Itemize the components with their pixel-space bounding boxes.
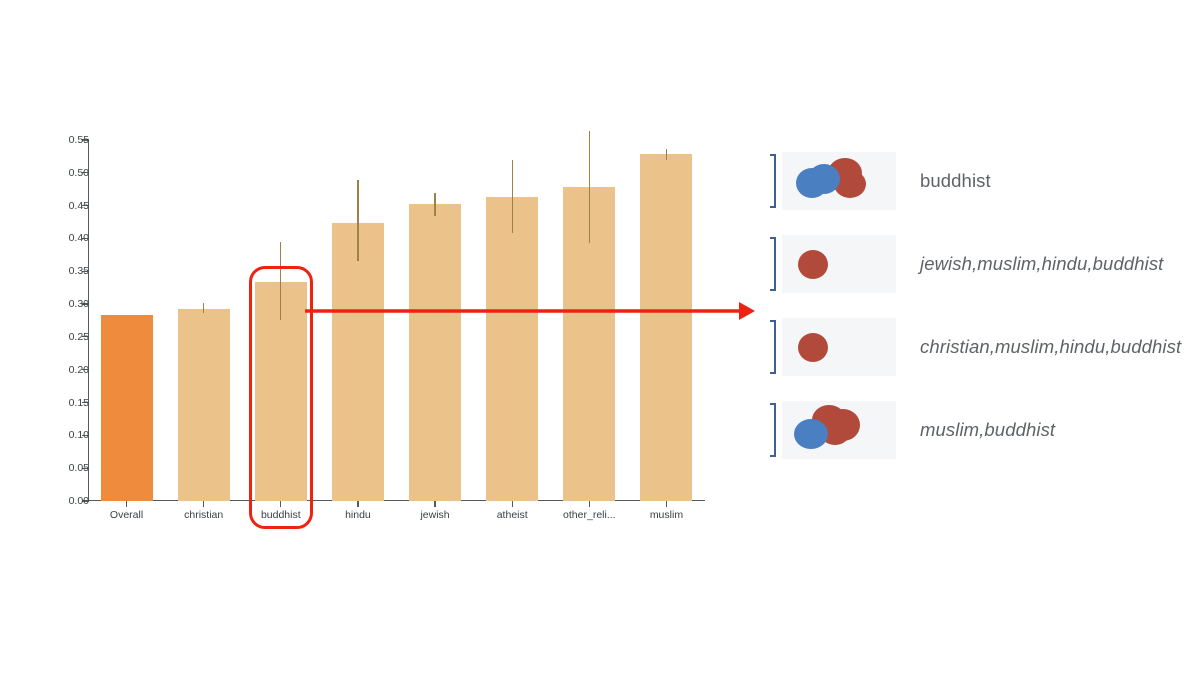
x-tick-label-other-reli-: other_reli... — [551, 509, 628, 522]
bar-atheist[interactable] — [486, 197, 538, 501]
bar-muslim[interactable] — [640, 154, 692, 501]
y-tick-label: 0.15 — [53, 398, 89, 409]
y-tick-label: 0.20 — [53, 365, 89, 376]
y-axis-line — [88, 140, 89, 501]
red-blob-icon — [798, 333, 828, 362]
y-tick-label: 0.50 — [53, 168, 89, 179]
blue-blob-icon — [808, 164, 840, 194]
legend-item-label: muslim,buddhist — [920, 419, 1055, 441]
red-arrow-icon — [305, 296, 755, 326]
bar-overall[interactable] — [101, 315, 153, 501]
error-bar-jewish — [434, 193, 435, 217]
y-tick-label: 0.05 — [53, 463, 89, 474]
legend-swatch-thumbnail — [782, 401, 896, 459]
bar-chart-panel: 0.000.050.100.150.200.250.300.350.400.45… — [0, 0, 760, 675]
legend-item-label: buddhist — [920, 170, 991, 192]
bracket-icon — [768, 319, 780, 375]
red-blob-icon — [798, 250, 828, 279]
bar-christian[interactable] — [178, 309, 230, 501]
x-tick-mark — [357, 501, 358, 507]
y-tick-label: 0.45 — [53, 201, 89, 212]
y-tick-label: 0.25 — [53, 332, 89, 343]
y-tick-label: 0.35 — [53, 266, 89, 277]
legend-item-label: christian,muslim,hindu,buddhist — [920, 336, 1181, 358]
legend-swatch-thumbnail — [782, 152, 896, 210]
x-tick-label-jewish: jewish — [397, 509, 474, 522]
y-tick-label: 0.55 — [53, 135, 89, 146]
y-tick-label: 0.30 — [53, 299, 89, 310]
x-tick-mark — [434, 501, 435, 507]
highlight-rounded-rect — [249, 266, 313, 529]
legend-item-label: jewish,muslim,hindu,buddhist — [920, 253, 1163, 275]
legend-panel: buddhistjewish,muslim,hindu,buddhistchri… — [768, 150, 1200, 490]
bracket-icon — [768, 402, 780, 458]
x-tick-label-hindu: hindu — [319, 509, 396, 522]
x-tick-mark — [512, 501, 513, 507]
x-tick-label-muslim: muslim — [628, 509, 705, 522]
bracket-icon — [768, 236, 780, 292]
bar-hindu[interactable] — [332, 223, 384, 501]
legend-swatch-thumbnail — [782, 318, 896, 376]
legend-item[interactable]: christian,muslim,hindu,buddhist — [768, 316, 1198, 378]
error-bar-muslim — [666, 149, 667, 161]
error-bar-atheist — [512, 160, 513, 232]
legend-item[interactable]: muslim,buddhist — [768, 399, 1198, 461]
error-bar-christian — [203, 303, 204, 314]
x-tick-label-overall: Overall — [88, 509, 165, 522]
y-tick-label: 0.00 — [53, 496, 89, 507]
x-tick-mark — [203, 501, 204, 507]
x-tick-label-atheist: atheist — [474, 509, 551, 522]
bar-jewish[interactable] — [409, 204, 461, 501]
x-tick-mark — [666, 501, 667, 507]
legend-swatch-thumbnail — [782, 235, 896, 293]
bracket-icon — [768, 153, 780, 209]
blue-blob-icon — [794, 419, 828, 449]
x-tick-label-christian: christian — [165, 509, 242, 522]
x-tick-mark — [589, 501, 590, 507]
error-bar-other-reli- — [589, 131, 590, 243]
x-tick-mark — [126, 501, 127, 507]
error-bar-hindu — [357, 180, 358, 261]
legend-item[interactable]: jewish,muslim,hindu,buddhist — [768, 233, 1198, 295]
y-tick-label: 0.40 — [53, 233, 89, 244]
legend-item[interactable]: buddhist — [768, 150, 1198, 212]
y-tick-label: 0.10 — [53, 430, 89, 441]
